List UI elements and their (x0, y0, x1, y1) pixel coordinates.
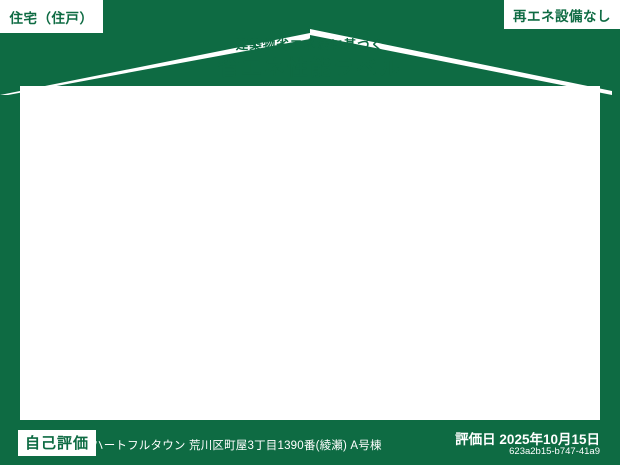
property-name: ハートフルタウン 荒川区町屋3丁目1390番(綾瀬) A号棟 (92, 437, 382, 453)
evaluation-date: 評価日 2025年10月15日 (455, 428, 600, 448)
self-evaluation-badge: 自己評価 (18, 430, 96, 456)
label-footer: 自己評価 ハートフルタウン 荒川区町屋3丁目1390番(綾瀬) A号棟 評価日 … (0, 420, 620, 465)
label-subtitle: 建築物省エネ法に基づく (0, 38, 620, 53)
renewable-equipment-tag: 再エネ設備なし (504, 0, 620, 29)
label-inner-card (20, 86, 600, 420)
building-type-tag: 住宅（住戸） (0, 0, 103, 33)
evaluation-id: 623a2b15-b747-41a9 (509, 446, 600, 457)
energy-label-card: 住宅（住戸） 再エネ設備なし 建築物省エネ法に基づく 省エネ性能ラベル エネルギ… (0, 0, 620, 465)
